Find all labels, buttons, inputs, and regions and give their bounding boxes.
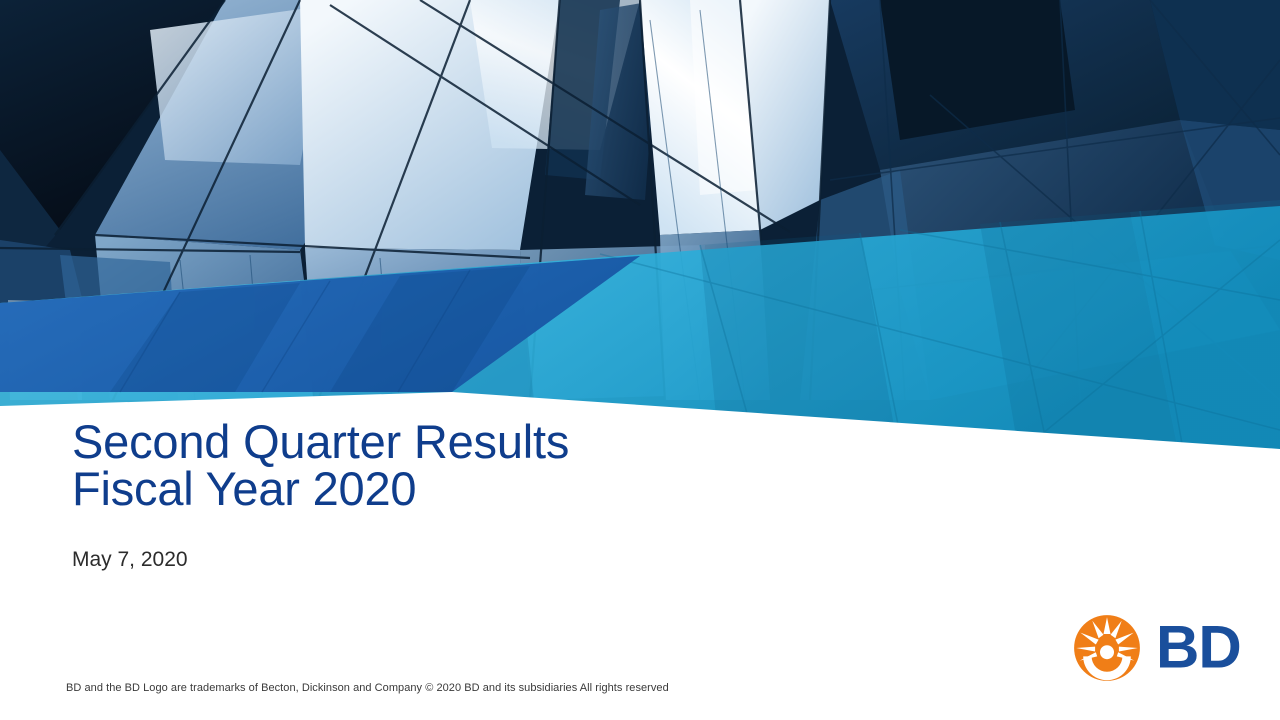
bd-wordmark: BD: [1156, 617, 1272, 679]
bd-logo: BD: [1072, 612, 1244, 684]
title-block: Second Quarter Results Fiscal Year 2020 …: [72, 418, 972, 572]
svg-text:BD: BD: [1156, 617, 1241, 679]
title-line-2: Fiscal Year 2020: [72, 465, 972, 512]
presentation-slide: Second Quarter Results Fiscal Year 2020 …: [0, 0, 1280, 720]
bd-sunburst-figure-icon: [1072, 613, 1142, 683]
page-title: Second Quarter Results Fiscal Year 2020: [72, 418, 972, 512]
title-line-1: Second Quarter Results: [72, 415, 569, 468]
legal-footer-text: BD and the BD Logo are trademarks of Bec…: [66, 681, 669, 695]
slide-date: May 7, 2020: [72, 548, 972, 572]
hero-image-abstract-glass-architecture: [0, 0, 1280, 460]
